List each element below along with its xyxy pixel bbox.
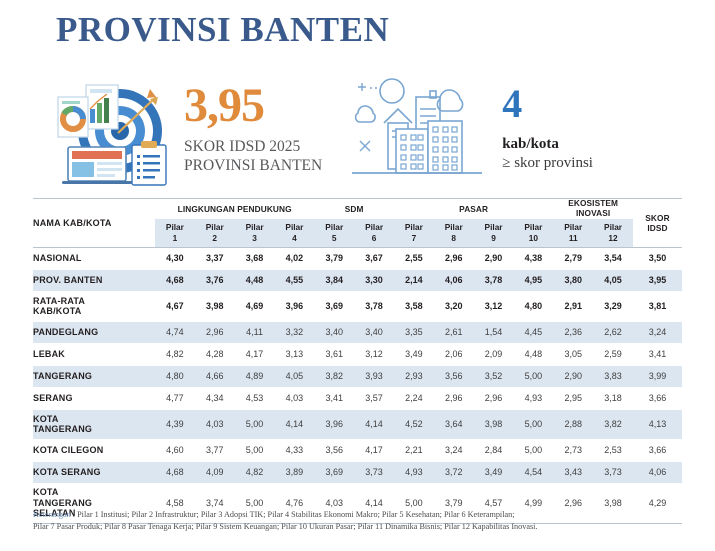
- col-header-pilar-1: Pilar1: [155, 219, 195, 247]
- cell-pilar-4: 3,13: [274, 343, 314, 365]
- cell-pilar-12: 3,83: [593, 365, 633, 387]
- cell-pilar-9: 2,96: [474, 387, 514, 409]
- cell-pilar-10: 4,95: [513, 269, 553, 291]
- footnote-line1: Pilar 1 Institusi; Pilar 2 Infrastruktur…: [77, 510, 514, 519]
- score-highlight: 3,95 SKOR IDSD 2025 PROVINSI BANTEN: [40, 69, 322, 187]
- cell-pilar-8: 4,06: [434, 269, 474, 291]
- cell-pilar-1: 4,74: [155, 321, 195, 343]
- row-label: KOTA SERANG: [33, 461, 155, 483]
- cell-pilar-2: 3,37: [195, 247, 235, 269]
- cell-pilar-4: 4,05: [274, 365, 314, 387]
- cell-pilar-12: 4,05: [593, 269, 633, 291]
- col-header-pilar-9: Pilar9: [474, 219, 514, 247]
- cell-pilar-5: 3,96: [314, 409, 354, 439]
- table-row: SERANG4,774,344,534,033,413,572,242,962,…: [33, 387, 682, 409]
- cell-pilar-5: 3,41: [314, 387, 354, 409]
- cell-skor-idsd: 3,24: [633, 321, 682, 343]
- row-label: LEBAK: [33, 343, 155, 365]
- table-body: NASIONAL4,303,373,684,023,793,672,552,96…: [33, 247, 682, 523]
- cell-pilar-3: 4,17: [235, 343, 275, 365]
- cell-pilar-7: 2,93: [394, 365, 434, 387]
- table-row: PROV. BANTEN4,683,764,484,553,843,302,14…: [33, 269, 682, 291]
- score-caption-line1: SKOR IDSD 2025: [184, 137, 322, 156]
- cell-pilar-8: 2,61: [434, 321, 474, 343]
- cell-pilar-12: 3,82: [593, 409, 633, 439]
- cell-pilar-6: 3,73: [354, 461, 394, 483]
- cell-pilar-8: 3,20: [434, 291, 474, 321]
- cell-pilar-1: 4,39: [155, 409, 195, 439]
- cell-pilar-10: 4,80: [513, 291, 553, 321]
- row-label: PROV. BANTEN: [33, 269, 155, 291]
- col-header-pilar-5: Pilar5: [314, 219, 354, 247]
- cell-pilar-6: 3,40: [354, 321, 394, 343]
- cell-pilar-8: 3,56: [434, 365, 474, 387]
- cell-pilar-5: 3,40: [314, 321, 354, 343]
- col-header-pilar-11: Pilar11: [553, 219, 593, 247]
- cell-pilar-7: 2,24: [394, 387, 434, 409]
- row-label: NASIONAL: [33, 247, 155, 269]
- cell-pilar-10: 5,00: [513, 365, 553, 387]
- col-group-1: SDM: [314, 199, 394, 220]
- cell-pilar-9: 2,90: [474, 247, 514, 269]
- infographic-page: PROVINSI BANTEN: [0, 0, 715, 551]
- cell-pilar-1: 4,82: [155, 343, 195, 365]
- cell-pilar-7: 2,14: [394, 269, 434, 291]
- cell-pilar-6: 3,78: [354, 291, 394, 321]
- footnote-line2: Pilar 7 Pasar Produk; Pilar 8 Pasar Tena…: [33, 521, 693, 533]
- kabkota-label: kab/kota: [502, 135, 593, 154]
- cell-skor-idsd: 3,99: [633, 365, 682, 387]
- col-group-3: EKOSISTEMINOVASI: [553, 199, 633, 220]
- cell-pilar-1: 4,68: [155, 269, 195, 291]
- cell-pilar-5: 3,61: [314, 343, 354, 365]
- score-value: 3,95: [184, 81, 322, 131]
- cell-pilar-9: 3,52: [474, 365, 514, 387]
- cell-skor-idsd: 3,66: [633, 439, 682, 461]
- cell-skor-idsd: 3,41: [633, 343, 682, 365]
- cell-pilar-2: 4,66: [195, 365, 235, 387]
- table-group-header-row: NAMA KAB/KOTALINGKUNGAN PENDUKUNGSDMPASA…: [33, 199, 682, 220]
- cell-pilar-6: 3,67: [354, 247, 394, 269]
- cell-pilar-4: 4,55: [274, 269, 314, 291]
- cell-pilar-5: 3,56: [314, 439, 354, 461]
- cell-pilar-7: 4,52: [394, 409, 434, 439]
- cell-pilar-2: 4,09: [195, 461, 235, 483]
- row-label: KOTATANGERANG: [33, 409, 155, 439]
- cell-pilar-12: 2,59: [593, 343, 633, 365]
- cell-pilar-7: 3,58: [394, 291, 434, 321]
- cell-skor-idsd: 3,66: [633, 387, 682, 409]
- cell-skor-idsd: 4,06: [633, 461, 682, 483]
- cell-pilar-2: 2,96: [195, 321, 235, 343]
- cell-pilar-3: 5,00: [235, 409, 275, 439]
- col-header-pilar-10: Pilar10: [513, 219, 553, 247]
- cell-pilar-12: 3,73: [593, 461, 633, 483]
- cell-pilar-10: 4,93: [513, 387, 553, 409]
- cell-skor-idsd: 3,95: [633, 269, 682, 291]
- cell-pilar-12: 2,62: [593, 321, 633, 343]
- cell-pilar-8: 3,64: [434, 409, 474, 439]
- row-label: PANDEGLANG: [33, 321, 155, 343]
- cell-pilar-7: 2,55: [394, 247, 434, 269]
- cell-pilar-8: 2,96: [434, 387, 474, 409]
- cell-pilar-2: 4,03: [195, 409, 235, 439]
- cell-pilar-11: 2,79: [553, 247, 593, 269]
- col-header-name: NAMA KAB/KOTA: [33, 199, 155, 248]
- cell-pilar-4: 3,89: [274, 461, 314, 483]
- cell-pilar-5: 3,82: [314, 365, 354, 387]
- cell-pilar-6: 3,93: [354, 365, 394, 387]
- col-header-pilar-2: Pilar2: [195, 219, 235, 247]
- cell-pilar-11: 3,05: [553, 343, 593, 365]
- city-buildings-icon: [344, 69, 494, 187]
- cell-pilar-7: 3,35: [394, 321, 434, 343]
- cell-pilar-11: 2,90: [553, 365, 593, 387]
- col-group-0: LINGKUNGAN PENDUKUNG: [155, 199, 314, 220]
- cell-pilar-1: 4,77: [155, 387, 195, 409]
- target-dartboard-analytics-icon: [40, 69, 180, 187]
- table-row: LEBAK4,824,284,173,133,613,123,492,062,0…: [33, 343, 682, 365]
- cell-pilar-10: 5,00: [513, 439, 553, 461]
- cell-pilar-9: 2,84: [474, 439, 514, 461]
- footnote-separator: :: [73, 510, 75, 519]
- cell-pilar-10: 4,48: [513, 343, 553, 365]
- cell-pilar-9: 2,09: [474, 343, 514, 365]
- cell-pilar-12: 2,53: [593, 439, 633, 461]
- row-label: RATA-RATAKAB/KOTA: [33, 291, 155, 321]
- cell-pilar-3: 3,68: [235, 247, 275, 269]
- cell-pilar-9: 3,12: [474, 291, 514, 321]
- cell-pilar-8: 2,06: [434, 343, 474, 365]
- cell-skor-idsd: 3,50: [633, 247, 682, 269]
- cell-pilar-11: 2,95: [553, 387, 593, 409]
- cell-pilar-1: 4,30: [155, 247, 195, 269]
- kabkota-highlight: 4 kab/kota ≥ skor provinsi: [344, 69, 593, 187]
- kabkota-count: 4: [502, 83, 593, 125]
- cell-pilar-11: 2,73: [553, 439, 593, 461]
- cell-pilar-4: 4,02: [274, 247, 314, 269]
- cell-pilar-10: 4,45: [513, 321, 553, 343]
- table-head: NAMA KAB/KOTALINGKUNGAN PENDUKUNGSDMPASA…: [33, 199, 682, 248]
- cell-pilar-2: 3,77: [195, 439, 235, 461]
- cell-pilar-5: 3,69: [314, 461, 354, 483]
- footnote: Keterangan : Pilar 1 Institusi; Pilar 2 …: [33, 509, 693, 532]
- cell-pilar-6: 4,17: [354, 439, 394, 461]
- cell-pilar-8: 3,72: [434, 461, 474, 483]
- idsd-table: NAMA KAB/KOTALINGKUNGAN PENDUKUNGSDMPASA…: [33, 198, 682, 524]
- cell-pilar-12: 3,54: [593, 247, 633, 269]
- cell-pilar-1: 4,67: [155, 291, 195, 321]
- cell-pilar-7: 4,93: [394, 461, 434, 483]
- cell-pilar-10: 4,54: [513, 461, 553, 483]
- cell-pilar-5: 3,79: [314, 247, 354, 269]
- cell-pilar-8: 3,24: [434, 439, 474, 461]
- cell-pilar-9: 3,98: [474, 409, 514, 439]
- cell-pilar-11: 2,88: [553, 409, 593, 439]
- hero-section: 3,95 SKOR IDSD 2025 PROVINSI BANTEN: [0, 60, 715, 195]
- cell-pilar-5: 3,69: [314, 291, 354, 321]
- cell-pilar-12: 3,18: [593, 387, 633, 409]
- cell-pilar-1: 4,60: [155, 439, 195, 461]
- col-header-pilar-3: Pilar3: [235, 219, 275, 247]
- table-row: PANDEGLANG4,742,964,113,323,403,403,352,…: [33, 321, 682, 343]
- cell-pilar-9: 1,54: [474, 321, 514, 343]
- col-header-pilar-8: Pilar8: [434, 219, 474, 247]
- cell-pilar-11: 2,91: [553, 291, 593, 321]
- cell-pilar-11: 2,36: [553, 321, 593, 343]
- cell-pilar-11: 3,80: [553, 269, 593, 291]
- cell-pilar-8: 2,96: [434, 247, 474, 269]
- cell-skor-idsd: 4,13: [633, 409, 682, 439]
- kabkota-sublabel: ≥ skor provinsi: [502, 154, 593, 173]
- col-group-2: PASAR: [394, 199, 553, 220]
- cell-pilar-3: 4,82: [235, 461, 275, 483]
- cell-pilar-4: 4,03: [274, 387, 314, 409]
- cell-pilar-5: 3,84: [314, 269, 354, 291]
- cell-pilar-6: 4,14: [354, 409, 394, 439]
- col-header-pilar-12: Pilar12: [593, 219, 633, 247]
- score-caption: SKOR IDSD 2025 PROVINSI BANTEN: [184, 137, 322, 175]
- row-label: TANGERANG: [33, 365, 155, 387]
- cell-pilar-9: 3,49: [474, 461, 514, 483]
- cell-pilar-3: 4,11: [235, 321, 275, 343]
- cell-pilar-6: 3,57: [354, 387, 394, 409]
- cell-pilar-2: 4,28: [195, 343, 235, 365]
- cell-pilar-2: 3,98: [195, 291, 235, 321]
- table-row: RATA-RATAKAB/KOTA4,673,984,693,963,693,7…: [33, 291, 682, 321]
- cell-pilar-9: 3,78: [474, 269, 514, 291]
- cell-pilar-6: 3,30: [354, 269, 394, 291]
- footnote-label: Keterangan: [33, 510, 71, 519]
- score-caption-line2: PROVINSI BANTEN: [184, 156, 322, 175]
- cell-pilar-3: 4,53: [235, 387, 275, 409]
- cell-pilar-12: 3,29: [593, 291, 633, 321]
- cell-pilar-3: 4,48: [235, 269, 275, 291]
- score-text-block: 3,95 SKOR IDSD 2025 PROVINSI BANTEN: [184, 81, 322, 175]
- cell-pilar-1: 4,68: [155, 461, 195, 483]
- table-row: KOTATANGERANG4,394,035,004,143,964,144,5…: [33, 409, 682, 439]
- cell-pilar-6: 3,12: [354, 343, 394, 365]
- cell-pilar-4: 4,33: [274, 439, 314, 461]
- table-row: TANGERANG4,804,664,894,053,823,932,933,5…: [33, 365, 682, 387]
- kabkota-text-block: 4 kab/kota ≥ skor provinsi: [502, 83, 593, 173]
- cell-pilar-11: 3,43: [553, 461, 593, 483]
- cell-pilar-3: 4,89: [235, 365, 275, 387]
- cell-pilar-7: 3,49: [394, 343, 434, 365]
- cell-pilar-2: 4,34: [195, 387, 235, 409]
- table-row: KOTA SERANG4,684,094,823,893,693,734,933…: [33, 461, 682, 483]
- table-row: NASIONAL4,303,373,684,023,793,672,552,96…: [33, 247, 682, 269]
- table-row: KOTA CILEGON4,603,775,004,333,564,172,21…: [33, 439, 682, 461]
- col-header-pilar-6: Pilar6: [354, 219, 394, 247]
- col-header-pilar-4: Pilar4: [274, 219, 314, 247]
- cell-pilar-3: 5,00: [235, 439, 275, 461]
- cell-pilar-10: 5,00: [513, 409, 553, 439]
- row-label: SERANG: [33, 387, 155, 409]
- cell-pilar-4: 3,32: [274, 321, 314, 343]
- cell-pilar-1: 4,80: [155, 365, 195, 387]
- cell-pilar-3: 4,69: [235, 291, 275, 321]
- page-title: PROVINSI BANTEN: [56, 10, 389, 50]
- cell-pilar-10: 4,38: [513, 247, 553, 269]
- row-label: KOTA CILEGON: [33, 439, 155, 461]
- cell-pilar-7: 2,21: [394, 439, 434, 461]
- cell-pilar-4: 4,14: [274, 409, 314, 439]
- cell-pilar-4: 3,96: [274, 291, 314, 321]
- cell-pilar-2: 3,76: [195, 269, 235, 291]
- col-header-skor: SKORIDSD: [633, 199, 682, 248]
- idsd-table-container: NAMA KAB/KOTALINGKUNGAN PENDUKUNGSDMPASA…: [33, 198, 682, 524]
- col-header-pilar-7: Pilar7: [394, 219, 434, 247]
- cell-skor-idsd: 3,81: [633, 291, 682, 321]
